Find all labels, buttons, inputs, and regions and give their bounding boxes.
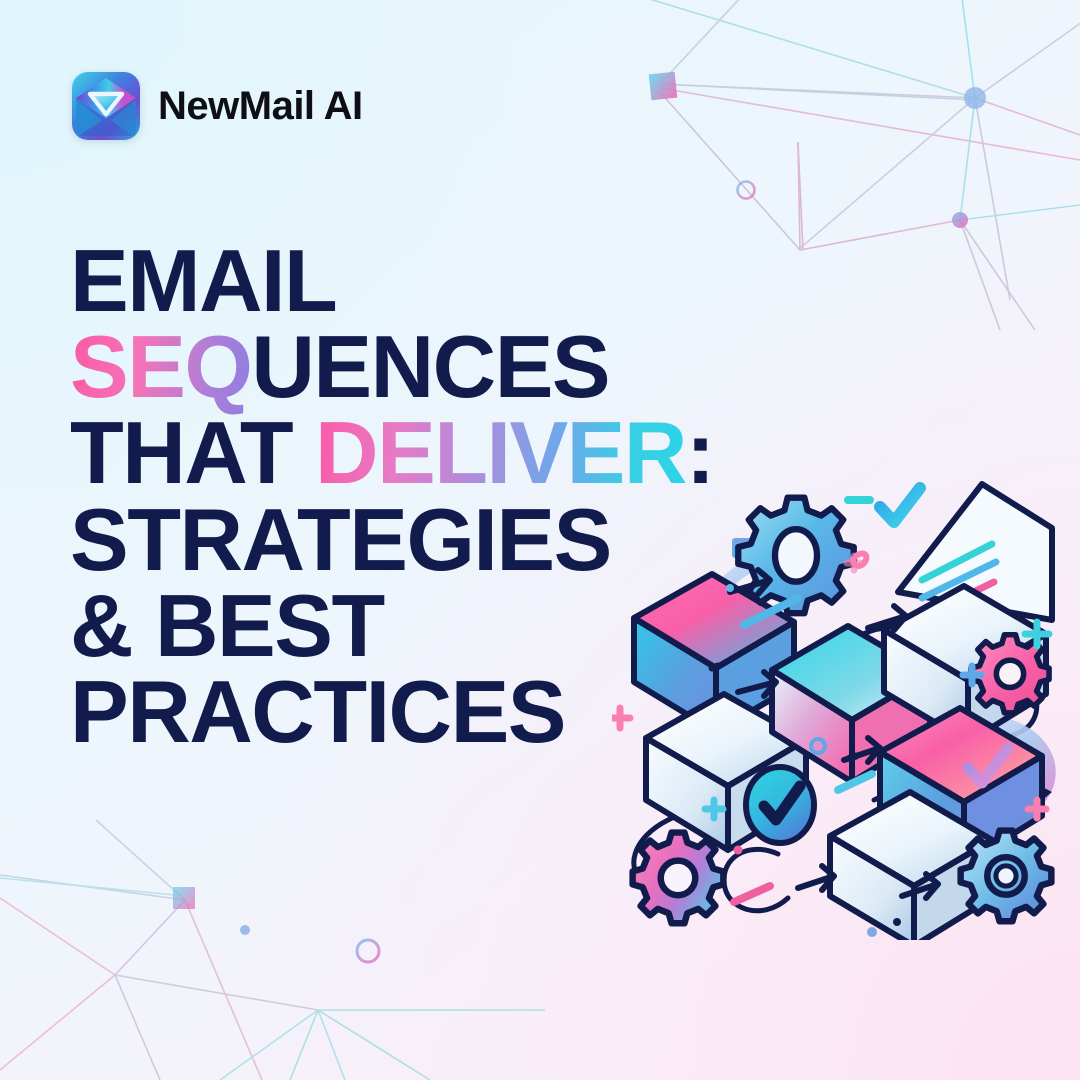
network-node-ring [357,940,379,962]
headline-line-2: SEQUENCES [70,324,710,410]
poster-canvas: NewMail AI EMAIL SEQUENCES THAT DELIVER:… [0,0,1080,1080]
headline-line-1: EMAIL [70,238,710,324]
network-node-dot [964,87,986,109]
gear-blue-small-icon [961,831,1052,922]
gear-gradient-icon [633,833,724,924]
dot-blue [867,927,877,937]
network-node-dot [240,925,250,935]
check-cyan-icon [880,488,920,522]
dot-navy [893,918,901,926]
email-sequence-workflow-illustration [612,470,1080,940]
network-node-ring [738,182,755,199]
check-circle-icon [746,767,814,843]
headline-line-3-plain: THAT [70,403,315,502]
dash-navy [712,666,718,668]
dot-blue [726,584,734,592]
brand-name: NewMail AI [158,86,363,126]
dash-pink [734,886,770,902]
brand-logo[interactable]: NewMail AI [72,72,363,140]
headline-line-2-rest: UENCES [251,317,609,416]
network-node-dot [952,212,968,228]
envelope-diamond-logo-icon [72,72,140,140]
dash-navy [850,756,856,758]
headline-accent-seq: SEQ [70,317,251,416]
dot-pink [734,846,743,855]
network-node-square [649,72,678,101]
network-node-square [173,887,195,909]
